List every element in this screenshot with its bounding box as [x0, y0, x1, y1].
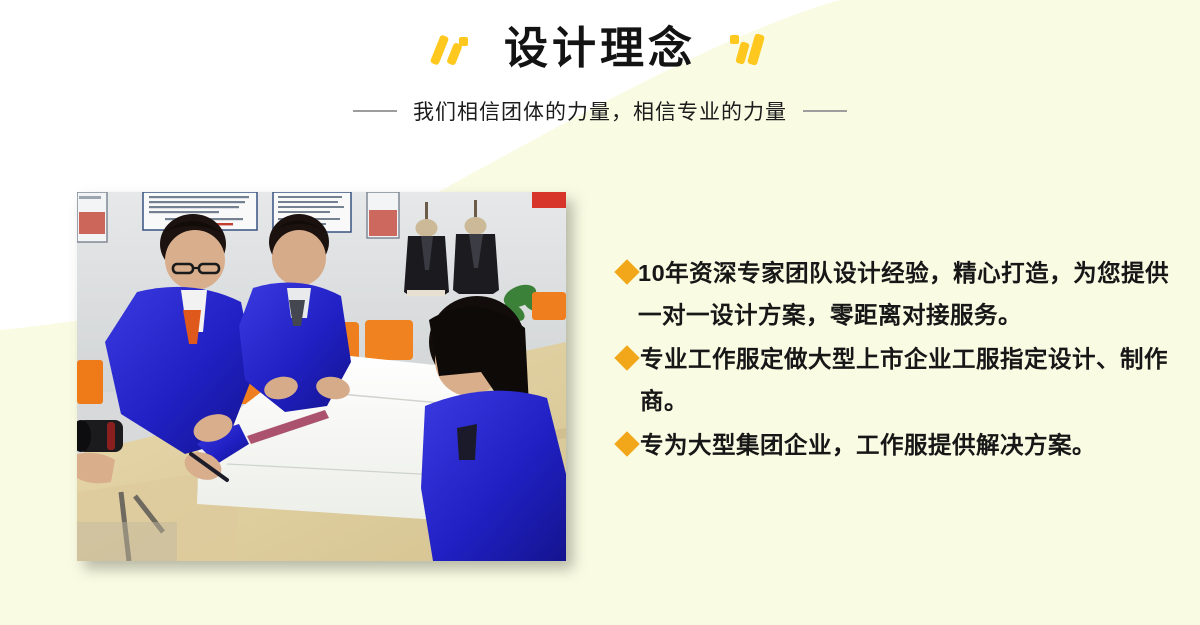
- diamond-bullet-icon: [614, 345, 639, 370]
- feature-text-2: 专业工作服定做大型上市企业工服指定设计、制作商。: [640, 338, 1178, 422]
- title-row: 设计理念: [0, 0, 1200, 82]
- subtitle-row: 我们相信团体的力量，相信专业的力量: [0, 96, 1200, 126]
- page-title: 设计理念: [504, 27, 696, 71]
- team-photo-image: [77, 192, 566, 561]
- diamond-bullet-icon: [614, 259, 639, 284]
- feature-text-3: 专为大型集团企业，工作服提供解决方案。: [640, 424, 1096, 466]
- design-concept-banner: 设计理念 我们相信团体的力量，相信专业的力量: [0, 0, 1200, 625]
- feature-text-1: 10年资深专家团队设计经验，精心打造，为您提供一对一设计方案，零距离对接服务。: [638, 252, 1178, 336]
- diamond-bullet-icon: [614, 431, 639, 456]
- feature-list: 10年资深专家团队设计经验，精心打造，为您提供一对一设计方案，零距离对接服务。 …: [618, 252, 1178, 468]
- rule-right-icon: [803, 110, 847, 112]
- feature-item-2: 专业工作服定做大型上市企业工服指定设计、制作商。: [618, 338, 1178, 422]
- page-subtitle: 我们相信团体的力量，相信专业的力量: [413, 96, 787, 126]
- feature-item-3: 专为大型集团企业，工作服提供解决方案。: [618, 424, 1178, 466]
- yellow-slash-dot-icon: [430, 25, 478, 73]
- team-photo: [77, 192, 566, 561]
- yellow-dot-slash-icon: [722, 25, 770, 73]
- rule-left-icon: [353, 110, 397, 112]
- banner-header: 设计理念 我们相信团体的力量，相信专业的力量: [0, 0, 1200, 126]
- feature-item-1: 10年资深专家团队设计经验，精心打造，为您提供一对一设计方案，零距离对接服务。: [618, 252, 1178, 336]
